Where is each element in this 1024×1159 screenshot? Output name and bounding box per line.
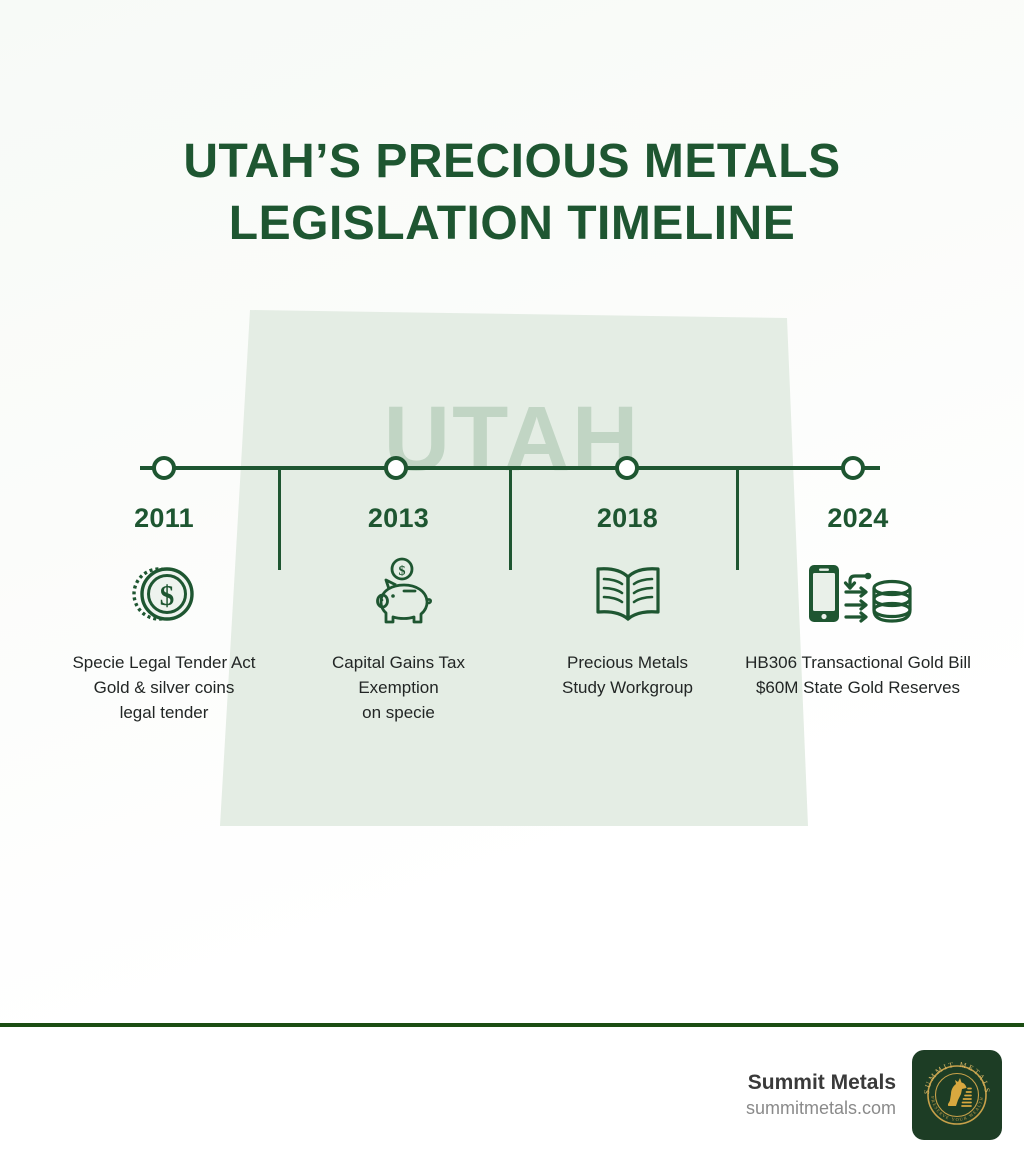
- open-book-icon: [505, 556, 750, 632]
- timeline-node-2018[interactable]: [615, 456, 639, 480]
- event-description-2018: Precious Metals Study Workgroup: [505, 650, 750, 700]
- event-year-2024: 2024: [722, 502, 994, 534]
- timeline-event-2018[interactable]: 2018 Precious Metals Study Workgroup: [505, 502, 750, 700]
- phone-transfer-coins-icon: [722, 556, 994, 632]
- svg-text:$: $: [160, 580, 175, 612]
- event-description-2024: HB306 Transactional Gold Bill $60M State…: [722, 650, 994, 700]
- piggy-bank-icon: $: [276, 556, 521, 632]
- svg-text:$: $: [398, 564, 405, 579]
- event-description-2011: Specie Legal Tender Act Gold & silver co…: [34, 650, 294, 725]
- gold-coin-icon: $: [34, 556, 294, 632]
- event-year-2011: 2011: [34, 502, 294, 534]
- event-description-2013: Capital Gains Tax Exemption on specie: [276, 650, 521, 725]
- footer-brand-block: Summit Metals summitmetals.com SUMMIT ME…: [746, 1050, 1002, 1140]
- event-year-2018: 2018: [505, 502, 750, 534]
- timeline-event-2013[interactable]: 2013 $ Capital Gains Tax Exem: [276, 502, 521, 725]
- footer-brand-text: Summit Metals summitmetals.com: [746, 1070, 896, 1120]
- brand-name: Summit Metals: [746, 1070, 896, 1096]
- timeline-node-2024[interactable]: [841, 456, 865, 480]
- timeline-event-2024[interactable]: 2024: [722, 502, 994, 700]
- timeline-event-2011[interactable]: 2011 $ Specie Legal Tender Act Gold & si…: [34, 502, 294, 725]
- lion-crest-icon[interactable]: SUMMIT METALS PRESERVE YOUR WEALTH: [912, 1050, 1002, 1140]
- timeline-node-2011[interactable]: [152, 456, 176, 480]
- timeline: 2011 $ Specie Legal Tender Act Gold & si…: [0, 0, 1024, 1154]
- event-year-2013: 2013: [276, 502, 521, 534]
- footer: Summit Metals summitmetals.com SUMMIT ME…: [0, 1027, 1024, 1154]
- timeline-node-2013[interactable]: [384, 456, 408, 480]
- brand-url[interactable]: summitmetals.com: [746, 1096, 896, 1120]
